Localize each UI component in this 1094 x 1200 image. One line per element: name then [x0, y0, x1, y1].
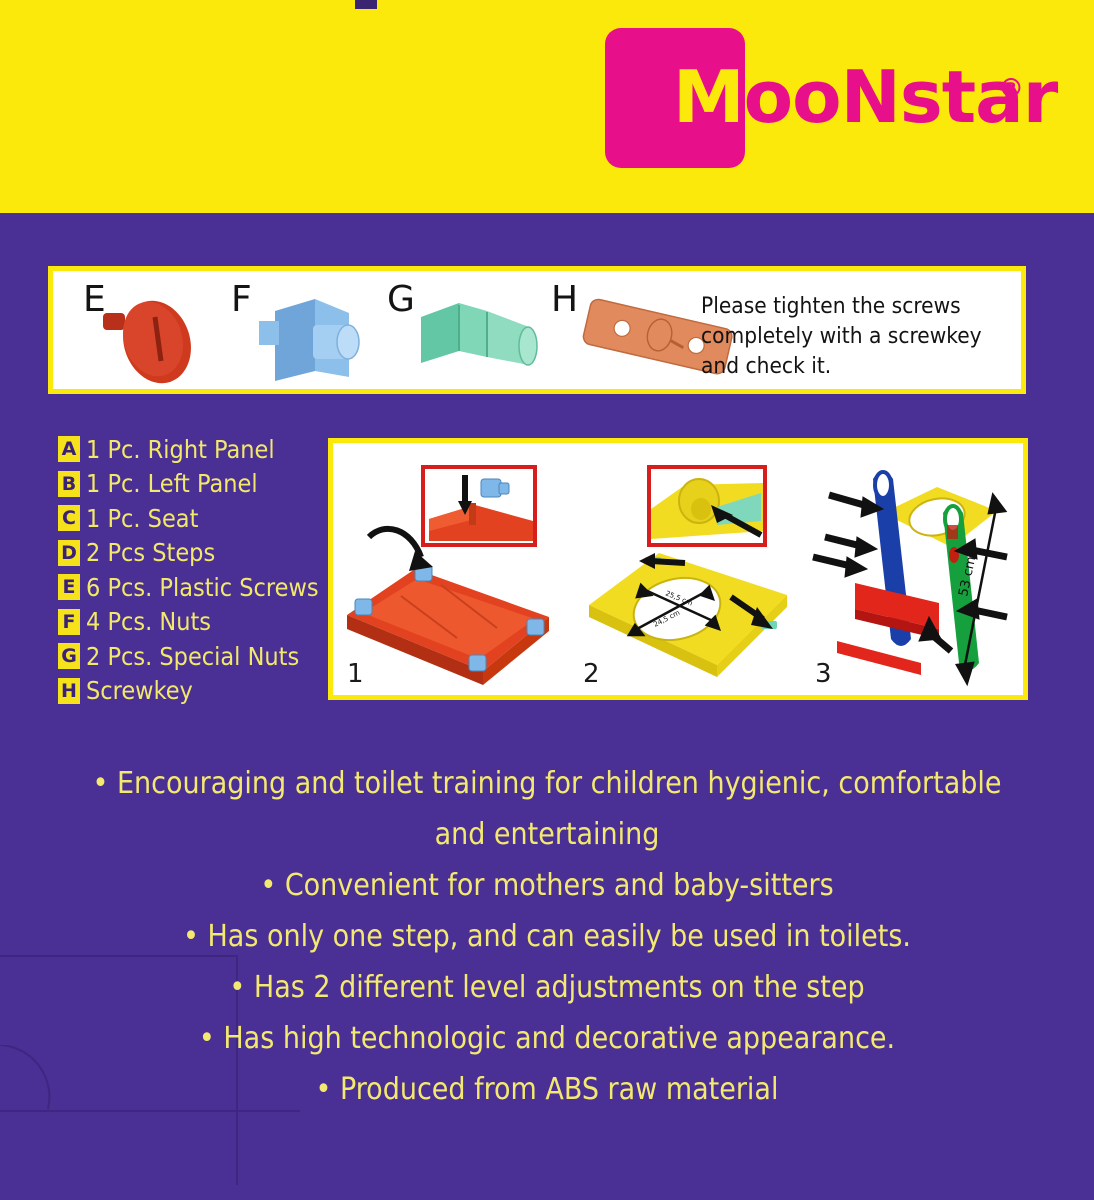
step-1-detail-illustration [425, 469, 535, 545]
hardware-strip: E F G [48, 266, 1026, 394]
parts-label-d: 2 Pcs Steps [86, 538, 215, 567]
feature-line: • Encouraging and toilet training for ch… [40, 760, 1054, 808]
assembly-step-3: 3 [805, 443, 1023, 695]
parts-badge-e: E [58, 574, 80, 600]
parts-list-row: C 1 Pc. Seat [58, 501, 333, 536]
hardware-item-f: F [223, 271, 373, 389]
parts-label-c: 1 Pc. Seat [86, 504, 198, 533]
registered-trademark-icon: ® [998, 74, 1024, 104]
hardware-item-g: G [383, 271, 543, 389]
parts-list-row: E 6 Pcs. Plastic Screws [58, 570, 333, 605]
parts-list-row: F 4 Pcs. Nuts [58, 605, 333, 640]
header-nick-mark [355, 0, 377, 9]
parts-label-a: 1 Pc. Right Panel [86, 435, 275, 464]
product-info-page: MooNstar ® E F [0, 0, 1094, 1200]
feature-line: • Has high technologic and decorative ap… [40, 1015, 1054, 1063]
parts-badge-g: G [58, 643, 80, 669]
features-list: • Encouraging and toilet training for ch… [40, 760, 1054, 1117]
hardware-item-h: H [551, 271, 711, 389]
parts-label-g: 2 Pcs. Special Nuts [86, 642, 299, 671]
parts-list-row: H Screwkey [58, 674, 333, 709]
assembly-steps-panel: 1 [328, 438, 1028, 700]
parts-badge-b: B [58, 471, 80, 497]
step-2-detail-illustration [651, 469, 765, 545]
red-screw-icon [99, 287, 219, 397]
logo-letter-m: M [673, 55, 744, 139]
parts-badge-a: A [58, 436, 80, 462]
assembly-step-1: 1 [333, 443, 569, 695]
header-band: MooNstar ® [0, 0, 1094, 213]
hardware-letter-g: G [387, 279, 415, 320]
feature-line: • Has only one step, and can easily be u… [40, 913, 1054, 961]
parts-badge-h: H [58, 678, 80, 704]
yellow-seat-illustration: 25,5 cm 24,5 cm [581, 543, 801, 693]
parts-label-e: 6 Pcs. Plastic Screws [86, 573, 319, 602]
parts-label-b: 1 Pc. Left Panel [86, 469, 258, 498]
parts-list-row: D 2 Pcs Steps [58, 536, 333, 571]
parts-list-row: B 1 Pc. Left Panel [58, 467, 333, 502]
hardware-letter-f: F [231, 279, 252, 320]
green-special-nut-icon [413, 293, 563, 393]
parts-badge-f: F [58, 609, 80, 635]
tighten-note: Please tighten the screws completely wit… [701, 291, 1011, 381]
parts-label-f: 4 Pcs. Nuts [86, 607, 211, 636]
assembled-stool-illustration: 53 cm [811, 451, 1026, 689]
feature-line: and entertaining [40, 811, 1054, 859]
hardware-item-e: E [75, 271, 215, 389]
parts-list-row: A 1 Pc. Right Panel [58, 432, 333, 467]
brand-logo: MooNstar ® [605, 28, 1025, 168]
feature-line: • Produced from ABS raw material [40, 1066, 1054, 1114]
step-1-detail-inset [421, 465, 537, 547]
parts-badge-d: D [58, 540, 80, 566]
step-2-detail-inset [647, 465, 767, 547]
feature-line: • Has 2 different level adjustments on t… [40, 964, 1054, 1012]
parts-list: A 1 Pc. Right Panel B 1 Pc. Left Panel C… [58, 432, 333, 708]
parts-badge-c: C [58, 505, 80, 531]
parts-list-row: G 2 Pcs. Special Nuts [58, 639, 333, 674]
feature-line: • Convenient for mothers and baby-sitter… [40, 862, 1054, 910]
assembly-step-2: 2 25,5 cm 24,5 cm [569, 443, 805, 695]
parts-label-h: Screwkey [86, 676, 193, 705]
blue-nut-icon [253, 285, 383, 395]
